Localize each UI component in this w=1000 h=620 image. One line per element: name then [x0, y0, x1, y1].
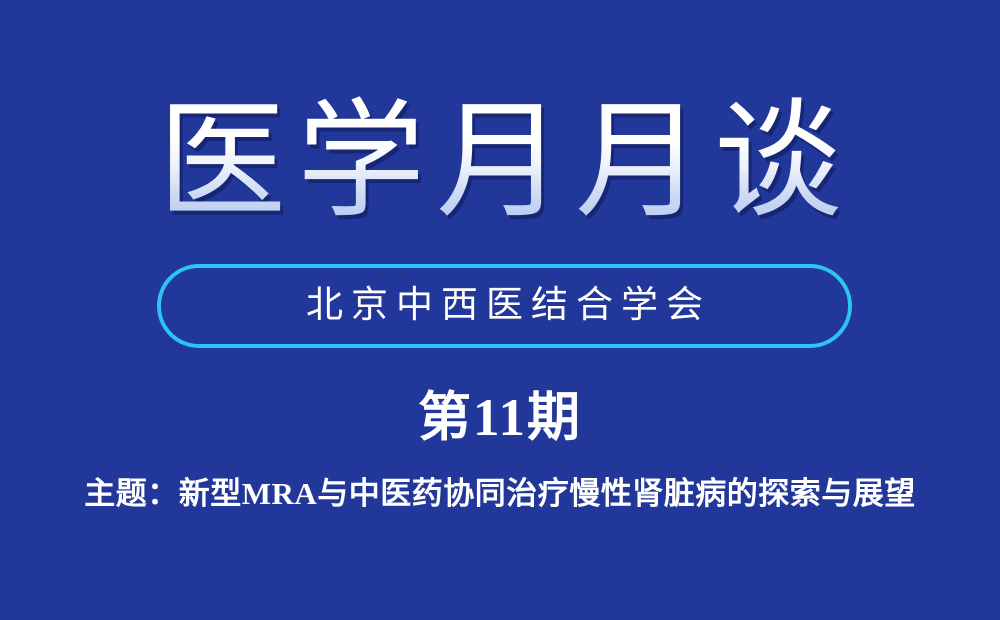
poster-subtitle: 主题：新型MRA与中医药协同治疗慢性肾脏病的探索与展望	[0, 474, 1000, 514]
page-title: 医学月月谈	[147, 96, 853, 228]
poster-root: 医学月月谈 北京中西医结合学会 第11期 主题：新型MRA与中医药协同治疗慢性肾…	[0, 0, 1000, 620]
main-title-container: 医学月月谈	[0, 96, 1000, 228]
episode-number: 第11期	[0, 388, 1000, 448]
organization-pill: 北京中西医结合学会	[157, 264, 852, 348]
organization-name: 北京中西医结合学会	[298, 286, 711, 326]
